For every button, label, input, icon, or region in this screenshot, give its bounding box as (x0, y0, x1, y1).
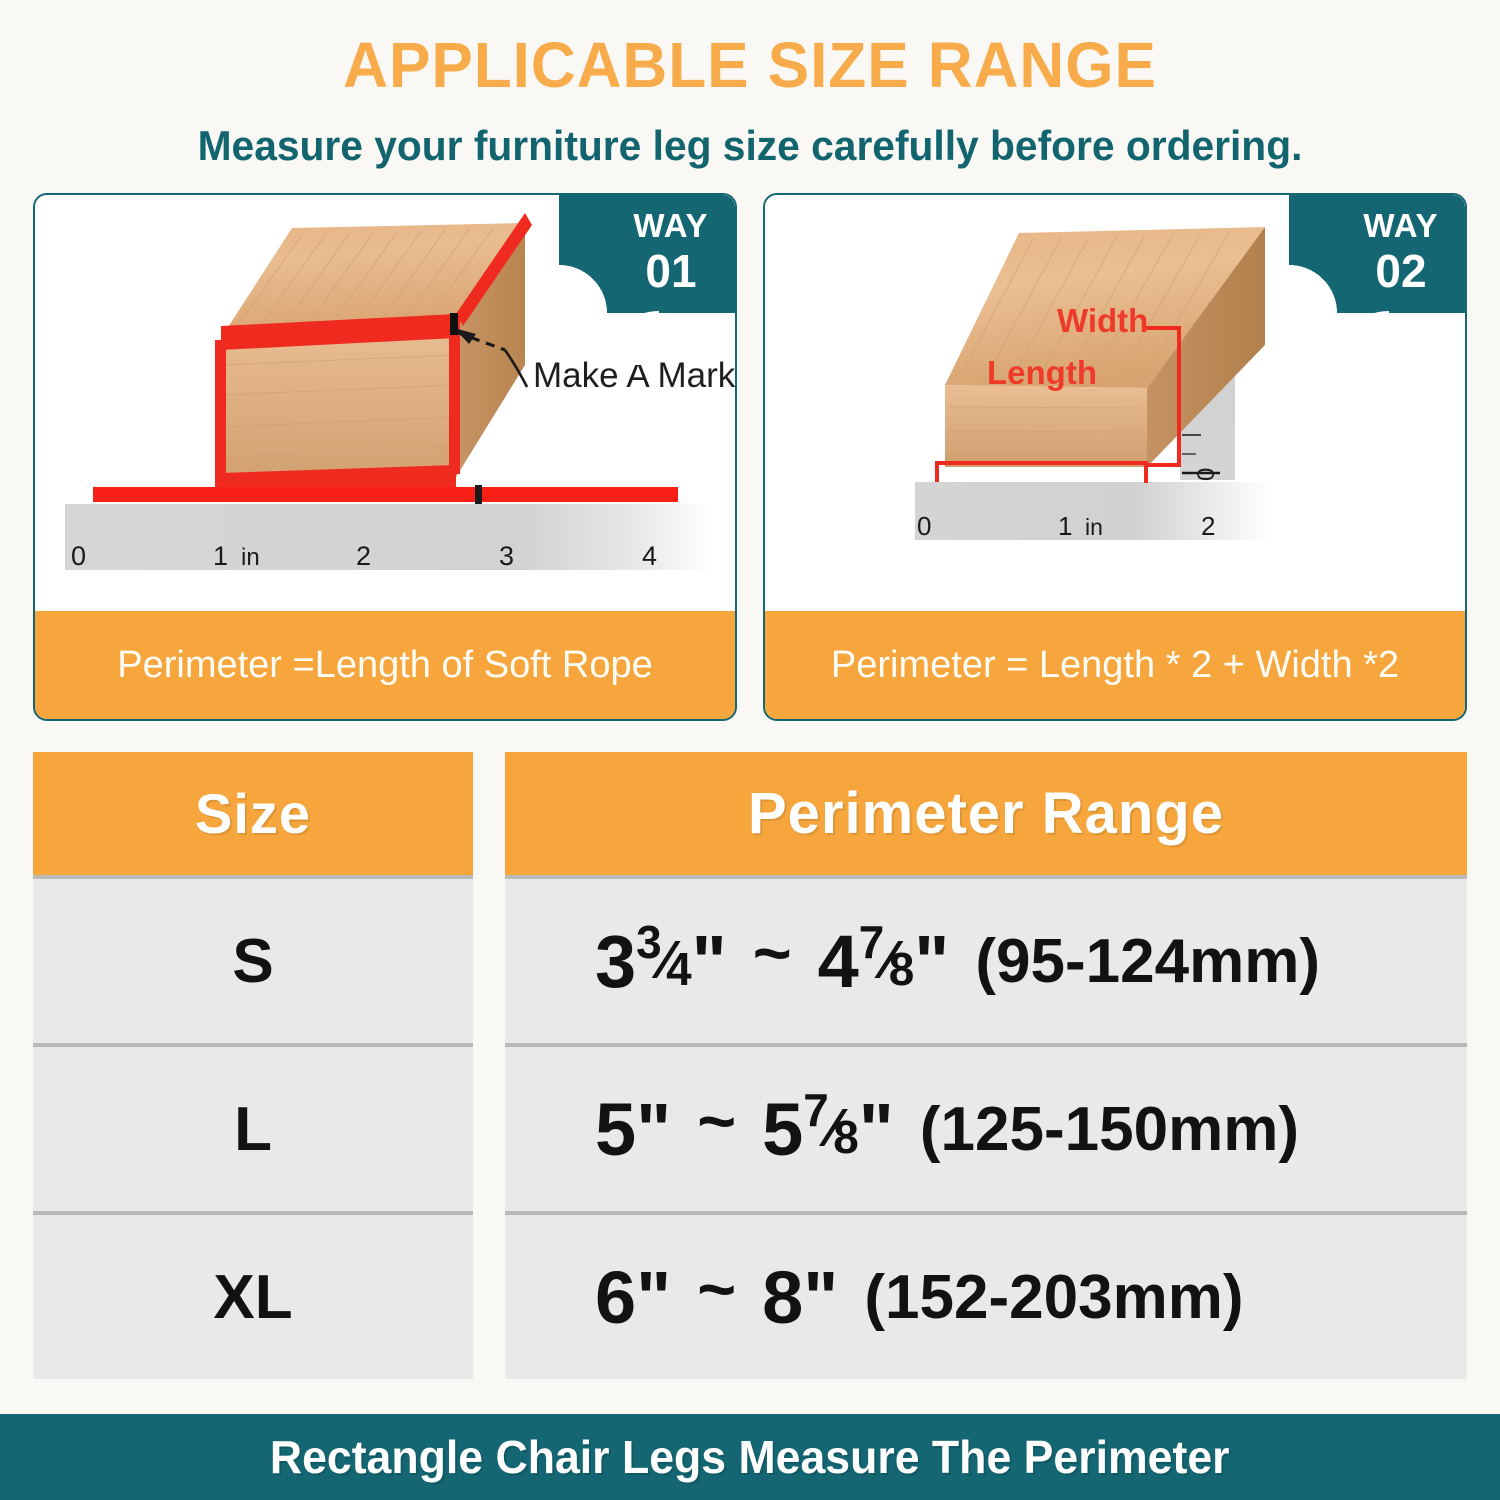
hruler-unit-in: in (1085, 514, 1103, 540)
range-unit-2: " (859, 1087, 894, 1172)
header-cell-size: Size (33, 752, 473, 875)
fraction-numerator: 3 (636, 915, 662, 977)
size-value: XL (213, 1262, 292, 1333)
way-01-caption: Perimeter =Length of Soft Rope (35, 611, 735, 719)
way-badge-word: WAY (1337, 209, 1465, 242)
length-label: Length (987, 354, 1097, 391)
hruler-tick-0: 0 (917, 511, 931, 541)
fraction-denominator: 8 (889, 942, 915, 1004)
ruler-unit-in: in (241, 544, 260, 571)
way-01-badge: WAY 01 (607, 195, 735, 313)
range-tilde: ~ (697, 1084, 736, 1160)
range-whole-2: 8 (762, 1255, 803, 1340)
cell-size: L (33, 1043, 473, 1211)
ruler-tick-4: 4 (642, 541, 657, 571)
range-mm: (152-203mm) (864, 1262, 1243, 1333)
cell-size: S (33, 875, 473, 1043)
page-title: APPLICABLE SIZE RANGE (23, 28, 1478, 102)
way-02-card: 0 1 in (763, 193, 1467, 721)
fraction-denominator: 8 (833, 1110, 859, 1172)
range-mm: (95-124mm) (975, 926, 1320, 997)
way-02-caption: Perimeter = Length * 2 + Width *2 (765, 611, 1465, 719)
ruler-horizontal-2: 0 1 in 2 (915, 482, 1270, 541)
range-tilde: ~ (697, 1252, 736, 1328)
cell-range: 5" ~ 57⁄8" (125-150mm) (505, 1043, 1467, 1211)
range-tilde: ~ (753, 916, 792, 992)
range-value: 5" ~ 57⁄8" (125-150mm) (595, 1087, 1299, 1172)
range-whole-2: 5 (762, 1087, 803, 1172)
range-unit-1: " (636, 1255, 671, 1340)
cell-range: 6" ~ 8" (152-203mm) (505, 1211, 1467, 1379)
range-unit-2: " (914, 919, 949, 1004)
table-row: L 5" ~ 57⁄8" (125-150mm) (33, 1043, 1467, 1211)
range-fraction-1: 3⁄4 (636, 929, 692, 991)
footer-text: Rectangle Chair Legs Measure The Perimet… (270, 1430, 1230, 1484)
range-whole-1: 5 (595, 1087, 636, 1172)
fraction-numerator: 7 (803, 1083, 829, 1145)
hruler-tick-2: 2 (1201, 511, 1215, 541)
ruler-tick-1: 1 (213, 541, 228, 571)
cell-range: 33⁄4" ~ 47⁄8" (95-124mm) (505, 875, 1467, 1043)
table-header-row: Size Perimeter Range (33, 752, 1467, 875)
way-badge-number: 01 (607, 248, 735, 294)
way-02-illustration: 0 1 in (765, 195, 1465, 613)
width-label: Width (1057, 302, 1148, 339)
hruler-tick-1: 1 (1058, 511, 1072, 541)
range-whole-1: 6 (595, 1255, 636, 1340)
ruler-tick-3: 3 (499, 541, 514, 571)
size-value: S (232, 926, 273, 997)
header-cell-range: Perimeter Range (505, 752, 1467, 875)
ruler-tick-2: 2 (356, 541, 371, 571)
ruler-horizontal: 0 1 in 2 3 4 (65, 485, 715, 571)
range-mm: (125-150mm) (920, 1094, 1299, 1165)
page-subtitle: Measure your furniture leg size carefull… (23, 122, 1478, 170)
range-unit-1: " (692, 919, 727, 1004)
ruler-tick-0: 0 (71, 541, 86, 571)
way-01-card: Make A Mark (33, 193, 737, 721)
way-02-caption-text: Perimeter = Length * 2 + Width *2 (831, 644, 1399, 687)
range-value: 33⁄4" ~ 47⁄8" (95-124mm) (595, 919, 1320, 1004)
range-fraction-2: 7⁄8 (859, 929, 915, 991)
range-value: 6" ~ 8" (152-203mm) (595, 1255, 1243, 1340)
way-01-illustration: Make A Mark (35, 195, 735, 613)
cell-size: XL (33, 1211, 473, 1379)
header-size-label: Size (195, 781, 311, 846)
fraction-denominator: 4 (666, 942, 692, 1004)
table-row: XL 6" ~ 8" (152-203mm) (33, 1211, 1467, 1379)
infographic-page: APPLICABLE SIZE RANGE Measure your furni… (0, 0, 1500, 1500)
way-badge-word: WAY (607, 209, 735, 242)
range-unit-1: " (636, 1087, 671, 1172)
table-row: S 33⁄4" ~ 47⁄8" (95-124mm) (33, 875, 1467, 1043)
range-fraction-2: 7⁄8 (803, 1097, 859, 1159)
size-table: Size Perimeter Range S 33⁄4" ~ 47⁄8" (95… (33, 752, 1467, 1379)
header-range-label: Perimeter Range (748, 780, 1224, 847)
size-value: L (234, 1094, 272, 1165)
footer-banner: Rectangle Chair Legs Measure The Perimet… (0, 1414, 1500, 1500)
way-badge-number: 02 (1337, 248, 1465, 294)
way-02-badge: WAY 02 (1337, 195, 1465, 313)
range-whole-1: 3 (595, 919, 636, 1004)
way-01-caption-text: Perimeter =Length of Soft Rope (117, 644, 653, 687)
range-unit-2: " (803, 1255, 838, 1340)
fraction-numerator: 7 (859, 915, 885, 977)
vruler-tick-0: 0 (1193, 468, 1220, 481)
range-whole-2: 4 (818, 919, 859, 1004)
